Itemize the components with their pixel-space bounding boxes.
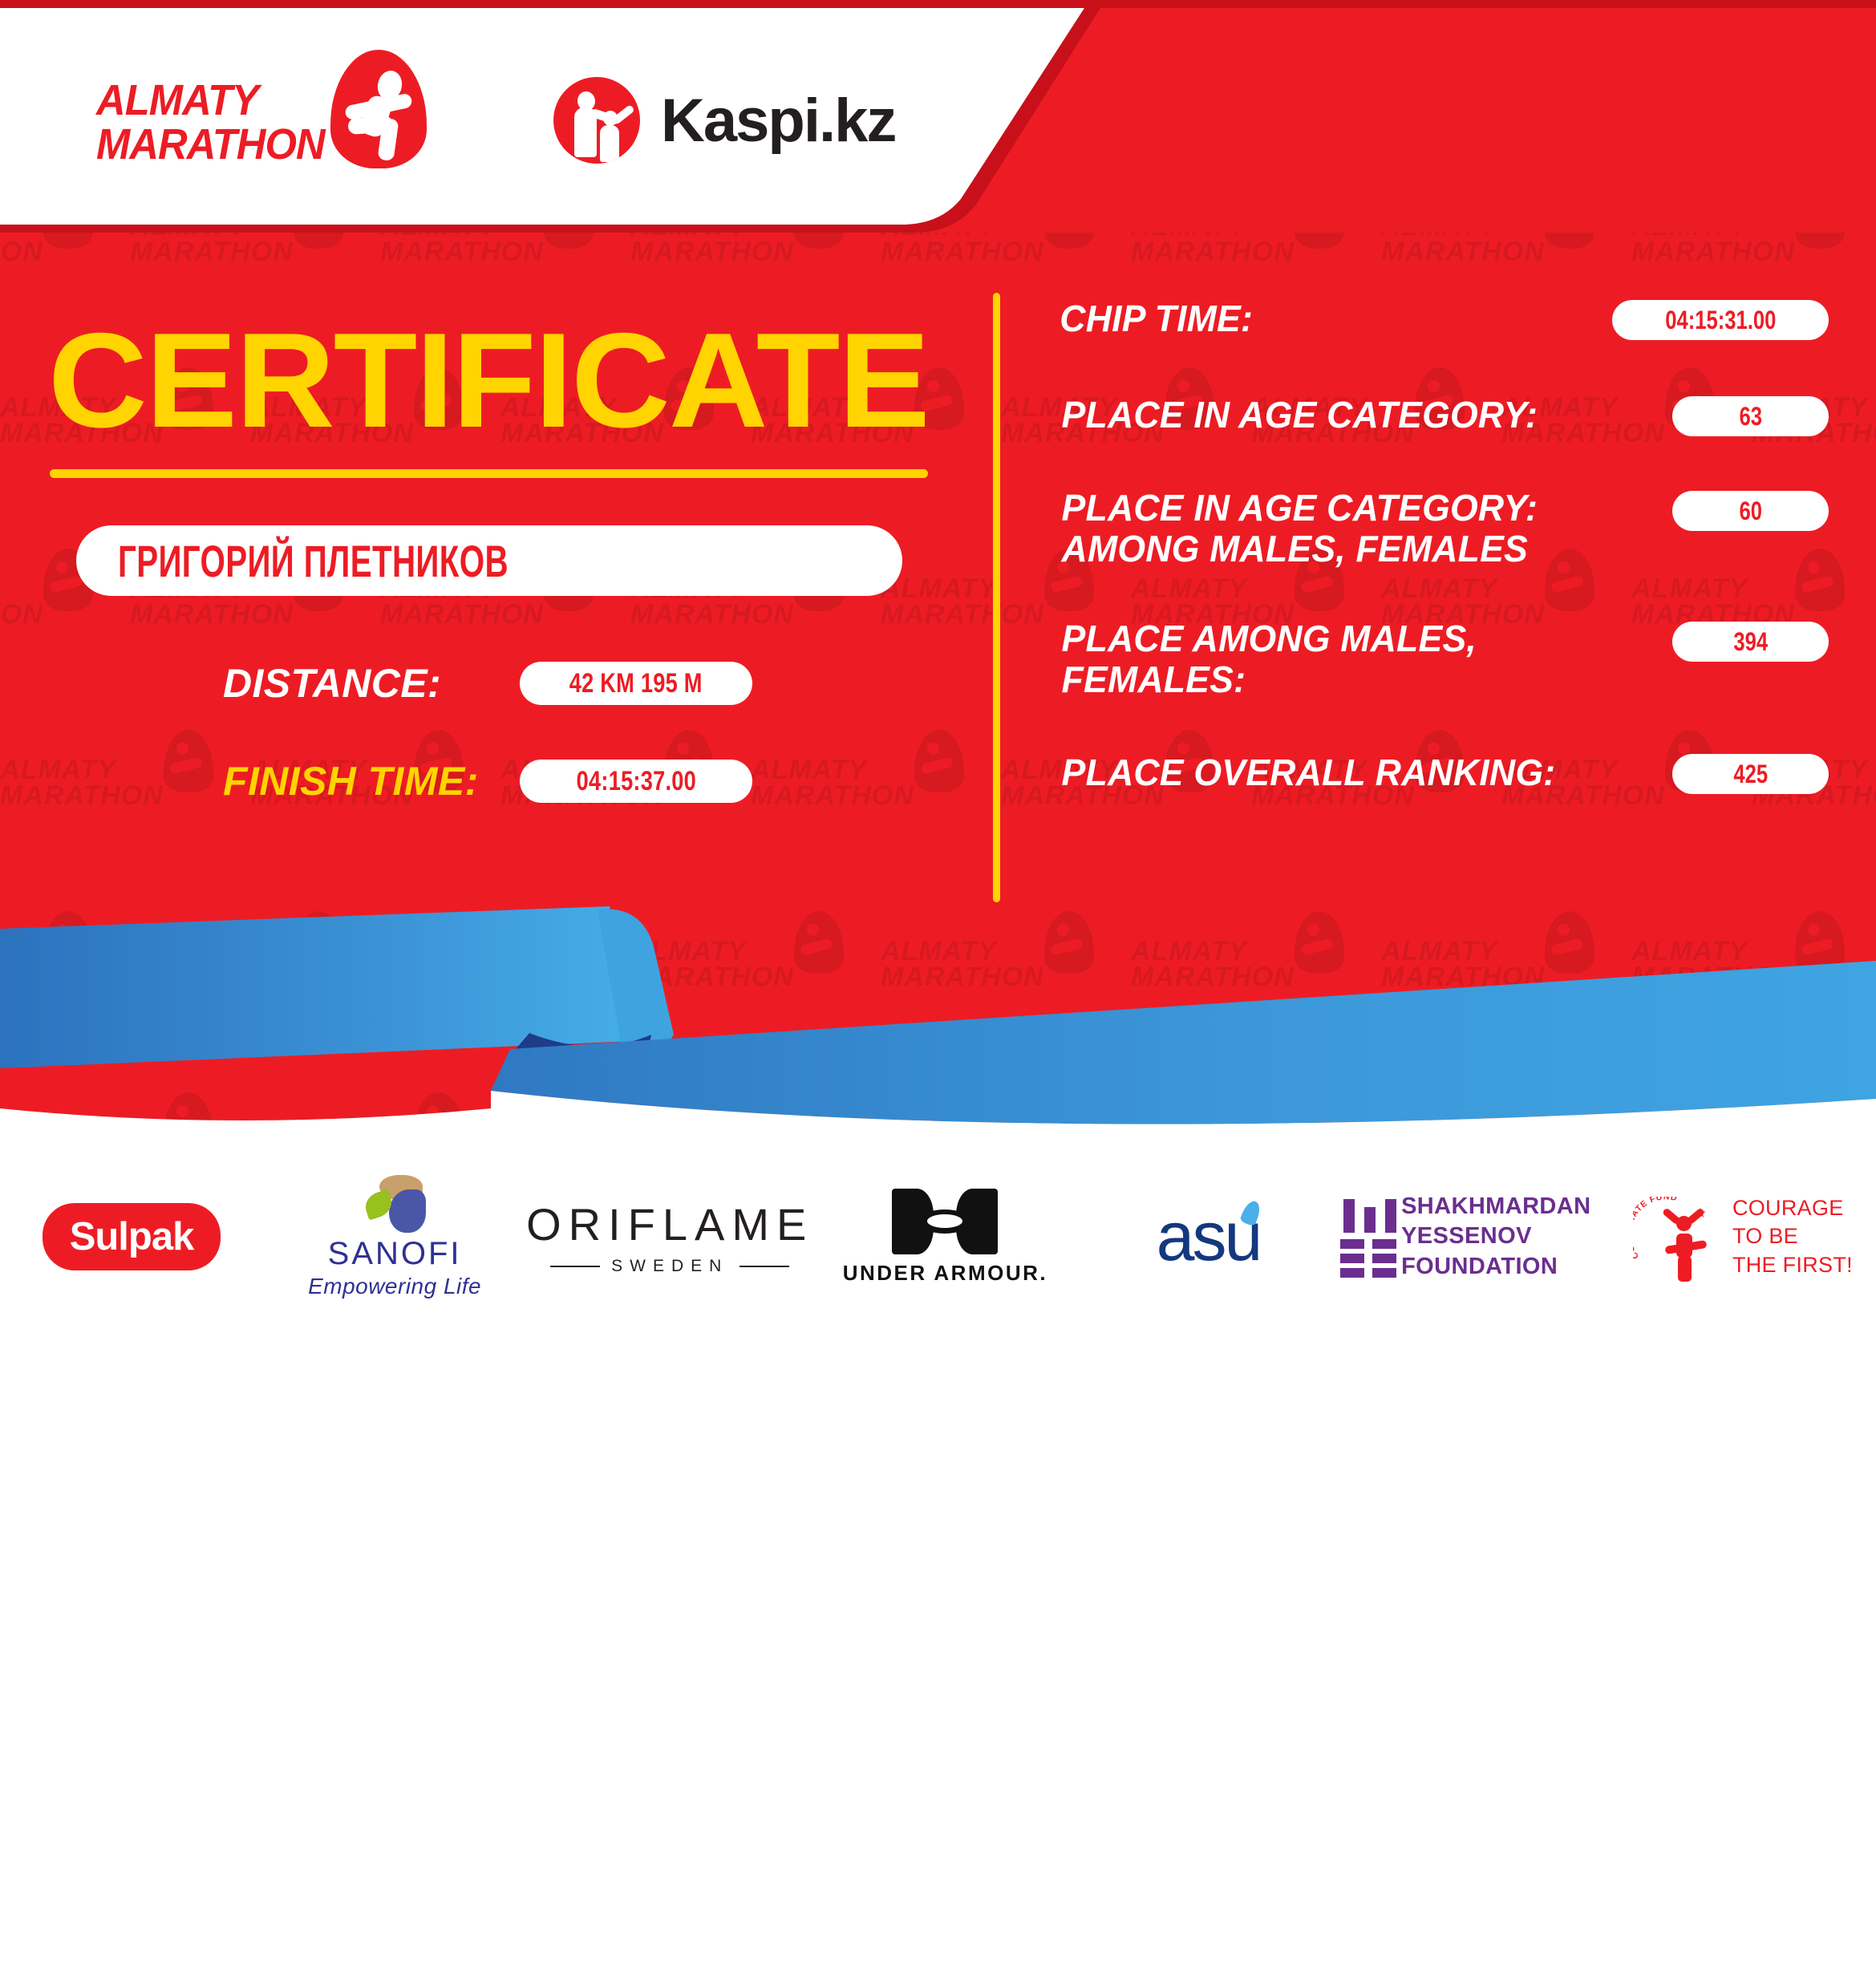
- stat-value-pill: 63: [1672, 396, 1829, 436]
- sponsor-sanofi: SANOFI Empowering Life: [263, 1147, 526, 1327]
- page-title: CERTIFICATE: [48, 313, 929, 448]
- under-armour-wordmark: UNDER ARMOUR.: [843, 1261, 1047, 1286]
- stat-label: CHIP TIME:: [1060, 297, 1612, 339]
- header-band: ALMATY MARATHON Kaspi.kz: [0, 0, 1876, 233]
- stat-label: PLACE IN AGE CATEGORY:AMONG MALES, FEMAL…: [1062, 488, 1672, 569]
- almaty-line: ALMATY: [96, 79, 325, 123]
- sponsor-oriflame: ORIFLAME SWEDEN: [526, 1147, 813, 1327]
- courage-figure-icon: [1667, 1206, 1712, 1280]
- under-armour-mark-icon: [892, 1189, 998, 1254]
- oriflame-sub: SWEDEN: [550, 1257, 789, 1276]
- sponsor-bar: Sulpak SANOFI Empowering Life ORIFLAME S…: [0, 1147, 1876, 1327]
- asu-logo: asu: [1157, 1197, 1261, 1277]
- stat-value: 425: [1733, 760, 1768, 789]
- finish-time-value-pill: 04:15:37.00: [520, 760, 752, 803]
- column-divider: [993, 293, 1000, 902]
- courage-fund-logo: CORPORATE FUND COURAGE TO BE THE FIRST!: [1636, 1192, 1853, 1282]
- marathon-line: MARATHON: [96, 123, 325, 167]
- sponsor-under-armour: UNDER ARMOUR.: [813, 1147, 1076, 1327]
- stat-row: CHIP TIME: 04:15:31.00: [1043, 297, 1829, 340]
- watermark-tile: ALMATYMARATHON: [751, 757, 959, 809]
- yessenov-line-2: FOUNDATION: [1401, 1252, 1613, 1282]
- oriflame-logo: ORIFLAME SWEDEN: [526, 1198, 813, 1276]
- stat-value-pill: 60: [1672, 491, 1829, 531]
- yessenov-line-1: SHAKHMARDAN YESSENOV: [1401, 1192, 1613, 1251]
- event-date: APRIL 21 st: [87, 1798, 450, 1954]
- kaspi-wordmark: Kaspi.kz: [661, 86, 895, 156]
- finish-time-label: FINISH TIME:: [223, 758, 520, 804]
- almaty-marathon-logo: ALMATY MARATHON: [96, 56, 433, 176]
- courage-fund-mark-icon: CORPORATE FUND: [1636, 1192, 1720, 1282]
- sponsor-courage-fund: CORPORATE FUND COURAGE TO BE THE FIRST!: [1613, 1147, 1876, 1327]
- courage-line-2: TO BE: [1732, 1222, 1853, 1250]
- oriflame-wordmark: ORIFLAME: [526, 1198, 813, 1250]
- finish-time-row: FINISH TIME: 04:15:37.00: [223, 758, 752, 804]
- sulpak-logo: Sulpak: [43, 1203, 221, 1270]
- event-day-suffix: st: [404, 1850, 448, 1903]
- sanofi-wordmark: SANOFI: [328, 1236, 462, 1272]
- event-ribbon: APRIL 21 st RUN FOR SENSATIONS: [0, 898, 1876, 1147]
- event-day: 21: [278, 1805, 398, 1931]
- distance-row: DISTANCE: 42 KM 195 M: [223, 660, 752, 707]
- stat-label: PLACE OVERALL RANKING:: [1062, 751, 1672, 793]
- stat-row: PLACE AMONG MALES,FEMALES: 394: [1043, 618, 1829, 699]
- distance-value: 42 KM 195 M: [569, 668, 703, 699]
- watermark-tile: ALMATYMARATHON: [0, 576, 88, 628]
- sponsor-asu: asu: [1076, 1147, 1339, 1327]
- stat-value: 394: [1733, 627, 1768, 657]
- stat-label: PLACE AMONG MALES,FEMALES:: [1062, 618, 1672, 699]
- certificate-page: ALMATYMARATHONALMATYMARATHONALMATYMARATH…: [0, 0, 1876, 1327]
- stat-value-pill: 04:15:31.00: [1612, 300, 1829, 340]
- stat-row: PLACE IN AGE CATEGORY:AMONG MALES, FEMAL…: [1043, 488, 1829, 569]
- title-underline: [50, 469, 928, 478]
- runner-drop-icon: [330, 50, 427, 168]
- courage-line-3: THE FIRST!: [1732, 1251, 1853, 1279]
- under-armour-logo: UNDER ARMOUR.: [843, 1189, 1047, 1286]
- courage-line-1: COURAGE: [1732, 1194, 1853, 1222]
- sponsor-sulpak: Sulpak: [0, 1147, 263, 1327]
- results-stats-list: CHIP TIME: 04:15:31.00 PLACE IN AGE CATE…: [1043, 297, 1829, 794]
- event-month: APRIL: [92, 1858, 275, 1943]
- stat-row: PLACE IN AGE CATEGORY: 63: [1043, 393, 1829, 436]
- watermark-tile: ALMATYMARATHON: [0, 757, 209, 809]
- rule-right: [739, 1266, 789, 1267]
- athlete-name-value: ГРИГОРИЙ ПЛЕТНИКОВ: [118, 535, 509, 587]
- sanofi-mark-icon: [363, 1175, 426, 1234]
- almaty-marathon-wordmark: ALMATY MARATHON: [96, 79, 325, 167]
- yessenov-foundation-logo: SHAKHMARDAN YESSENOV FOUNDATION: [1340, 1192, 1613, 1281]
- rule-left: [550, 1266, 600, 1267]
- event-slogan: RUN FOR SENSATIONS: [674, 1793, 1552, 1960]
- sponsor-yessenov: SHAKHMARDAN YESSENOV FOUNDATION: [1340, 1147, 1613, 1327]
- yessenov-mark-icon: [1340, 1199, 1381, 1274]
- oriflame-country: SWEDEN: [611, 1257, 728, 1276]
- stat-value-pill: 425: [1672, 754, 1829, 794]
- finish-time-value: 04:15:37.00: [576, 766, 695, 797]
- stat-row: PLACE OVERALL RANKING: 425: [1043, 751, 1829, 794]
- kaspi-logo: Kaspi.kz: [553, 76, 895, 164]
- courage-fund-wordmark: COURAGE TO BE THE FIRST!: [1732, 1194, 1853, 1278]
- stat-value: 60: [1739, 496, 1761, 526]
- stat-value: 63: [1739, 402, 1761, 432]
- sanofi-tagline: Empowering Life: [308, 1274, 481, 1299]
- stat-label: PLACE IN AGE CATEGORY:: [1062, 393, 1672, 436]
- sanofi-logo: SANOFI Empowering Life: [308, 1175, 481, 1299]
- stat-value-pill: 394: [1672, 622, 1829, 662]
- yessenov-wordmark: SHAKHMARDAN YESSENOV FOUNDATION: [1401, 1192, 1613, 1281]
- stat-value: 04:15:31.00: [1665, 306, 1776, 335]
- athlete-name-field: ГРИГОРИЙ ПЛЕТНИКОВ: [76, 525, 902, 596]
- kaspi-people-icon: [553, 77, 640, 164]
- distance-value-pill: 42 KM 195 M: [520, 662, 752, 705]
- distance-label: DISTANCE:: [223, 660, 520, 707]
